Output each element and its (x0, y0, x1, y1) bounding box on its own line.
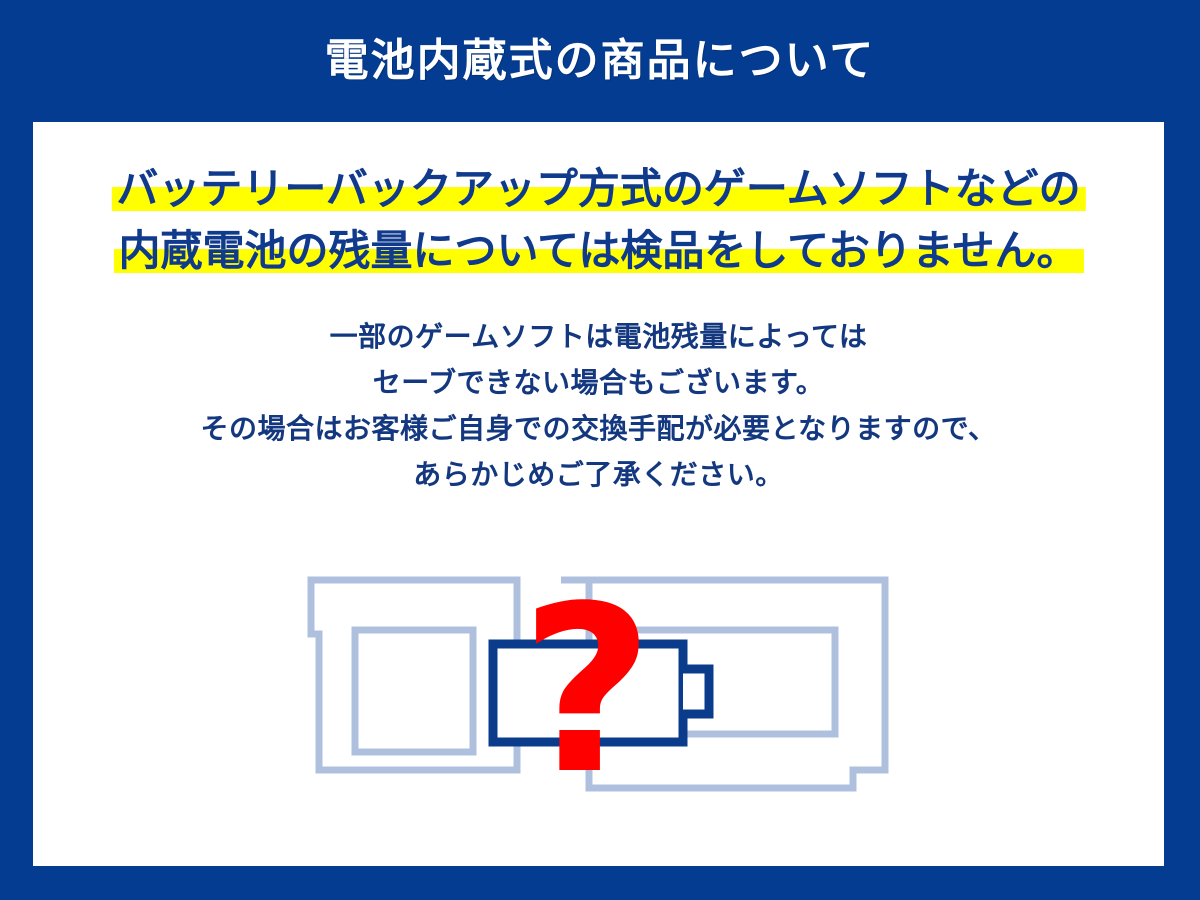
question-mark-icon: ? (520, 558, 653, 802)
headline-text: 内蔵電池の残量については検品をしておりません。 (118, 226, 1078, 275)
headline-text: バッテリーバックアップ方式のゲームソフトなどの (116, 164, 1080, 213)
battery-terminal (683, 669, 709, 714)
body-line: その場合はお客様ご自身での交換手配が必要となりますので、 (33, 406, 1164, 452)
game-cartridge-left (311, 580, 517, 770)
header-bar: 電池内蔵式の商品について (0, 0, 1200, 122)
body-line: あらかじめご了承ください。 (33, 452, 1164, 498)
illustration-block: ? (33, 552, 1164, 802)
game-cartridge-left-label (355, 630, 473, 752)
body-line: セーブできない場合もございます。 (33, 360, 1164, 406)
slide-root: 電池内蔵式の商品について バッテリーバックアップ方式のゲームソフトなどの 内蔵電… (0, 0, 1200, 900)
page-title: 電池内蔵式の商品について (325, 39, 876, 83)
body-line: 一部のゲームソフトは電池残量によっては (33, 314, 1164, 360)
headline-line: 内蔵電池の残量については検品をしておりません。 (33, 220, 1164, 282)
headline-block: バッテリーバックアップ方式のゲームソフトなどの 内蔵電池の残量については検品をし… (33, 158, 1164, 282)
headline-line: バッテリーバックアップ方式のゲームソフトなどの (33, 158, 1164, 220)
battery-cartridge-illustration: ? (289, 552, 909, 802)
body-paragraph: 一部のゲームソフトは電池残量によっては セーブできない場合もございます。 その場… (33, 314, 1164, 498)
content-card: バッテリーバックアップ方式のゲームソフトなどの 内蔵電池の残量については検品をし… (33, 122, 1164, 866)
